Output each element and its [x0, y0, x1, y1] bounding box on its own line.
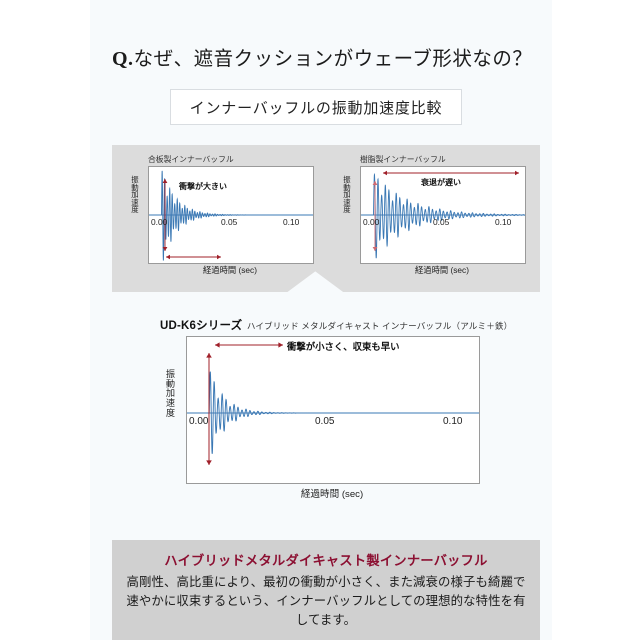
content-area: Q.なぜ、遮音クッションがウェーブ形状なの？ インナーバッフルの振動加速度比較 …	[90, 0, 552, 640]
question-mark-label: Q.	[112, 48, 134, 70]
main-chart-ylabel: 振動加速度	[164, 370, 177, 418]
xtick-0-plywood: 0.00	[151, 217, 167, 227]
chart-annotation-resin: 衰退が遅い	[421, 177, 461, 188]
xtick-0-resin: 0.00	[363, 217, 379, 227]
main-chart-description: ハイブリッド メタルダイキャスト インナーバッフル（アルミ＋鉄）	[247, 321, 512, 331]
main-xtick-2: 0.10	[443, 416, 462, 427]
chart-card-plywood: 合板製インナーバッフル 振動加速度 衝撃が大きい 0.00	[128, 154, 312, 278]
main-chart-annotation: 衝撃が小さく、収束も早い	[287, 339, 400, 353]
summary-body: 高剛性、高比重により、最初の衝動が小さく、また減衰の様子も綺麗で速やかに収束する…	[126, 573, 526, 631]
main-chart-plot: 衝撃が小さく、収束も早い 0.00 0.05 0.10	[186, 336, 480, 484]
xtick-2-resin: 0.10	[495, 217, 511, 227]
main-chart-model: UD-K6シリーズ	[160, 320, 242, 332]
chart-annotation-plywood: 衝撃が大きい	[179, 181, 227, 192]
chart-ylabel-plywood: 振動加速度	[129, 176, 141, 214]
main-chart: UD-K6シリーズ ハイブリッド メタルダイキャスト インナーバッフル（アルミ＋…	[160, 316, 540, 516]
page-title: Q.なぜ、遮音クッションがウェーブ形状なの？	[112, 42, 532, 71]
chart-ylabel-resin: 振動加速度	[341, 176, 353, 214]
chart-plot-plywood: 衝撃が大きい 0.00 0.05 0.10	[148, 166, 314, 264]
chart-xlabel-plywood: 経過時間 (sec)	[148, 264, 312, 276]
main-xtick-1: 0.05	[315, 416, 334, 427]
main-xtick-0: 0.00	[189, 416, 208, 427]
main-chart-xlabel: 経過時間 (sec)	[186, 486, 478, 500]
xtick-2-plywood: 0.10	[283, 217, 299, 227]
chart-title-plywood: 合板製インナーバッフル	[148, 154, 234, 165]
summary-headline: ハイブリッドメタルダイキャスト製インナーバッフル	[112, 550, 540, 569]
page-title-text: なぜ、遮音クッションがウェーブ形状なの？	[134, 48, 533, 70]
subtitle-text: インナーバッフルの振動加速度比較	[190, 97, 443, 118]
infographic-page: Q.なぜ、遮音クッションがウェーブ形状なの？ インナーバッフルの振動加速度比較 …	[0, 0, 640, 640]
waveform-hybrid	[187, 337, 479, 483]
xtick-1-resin: 0.05	[433, 217, 449, 227]
comparison-panel: 合板製インナーバッフル 振動加速度 衝撃が大きい 0.00	[112, 145, 540, 292]
chart-xlabel-resin: 経過時間 (sec)	[360, 264, 524, 276]
main-chart-title: UD-K6シリーズ ハイブリッド メタルダイキャスト インナーバッフル（アルミ＋…	[160, 316, 512, 334]
xtick-1-plywood: 0.05	[221, 217, 237, 227]
chart-plot-resin: 衰退が遅い 0.00 0.05 0.10	[360, 166, 526, 264]
chart-card-resin: 樹脂製インナーバッフル 振動加速度 衰退が遅い 0.00	[340, 154, 524, 278]
subtitle-box: インナーバッフルの振動加速度比較	[170, 89, 462, 125]
chart-title-resin: 樹脂製インナーバッフル	[360, 154, 446, 165]
waveform-plywood	[149, 167, 313, 263]
summary-block: ハイブリッドメタルダイキャスト製インナーバッフル 高剛性、高比重により、最初の衝…	[112, 540, 540, 640]
